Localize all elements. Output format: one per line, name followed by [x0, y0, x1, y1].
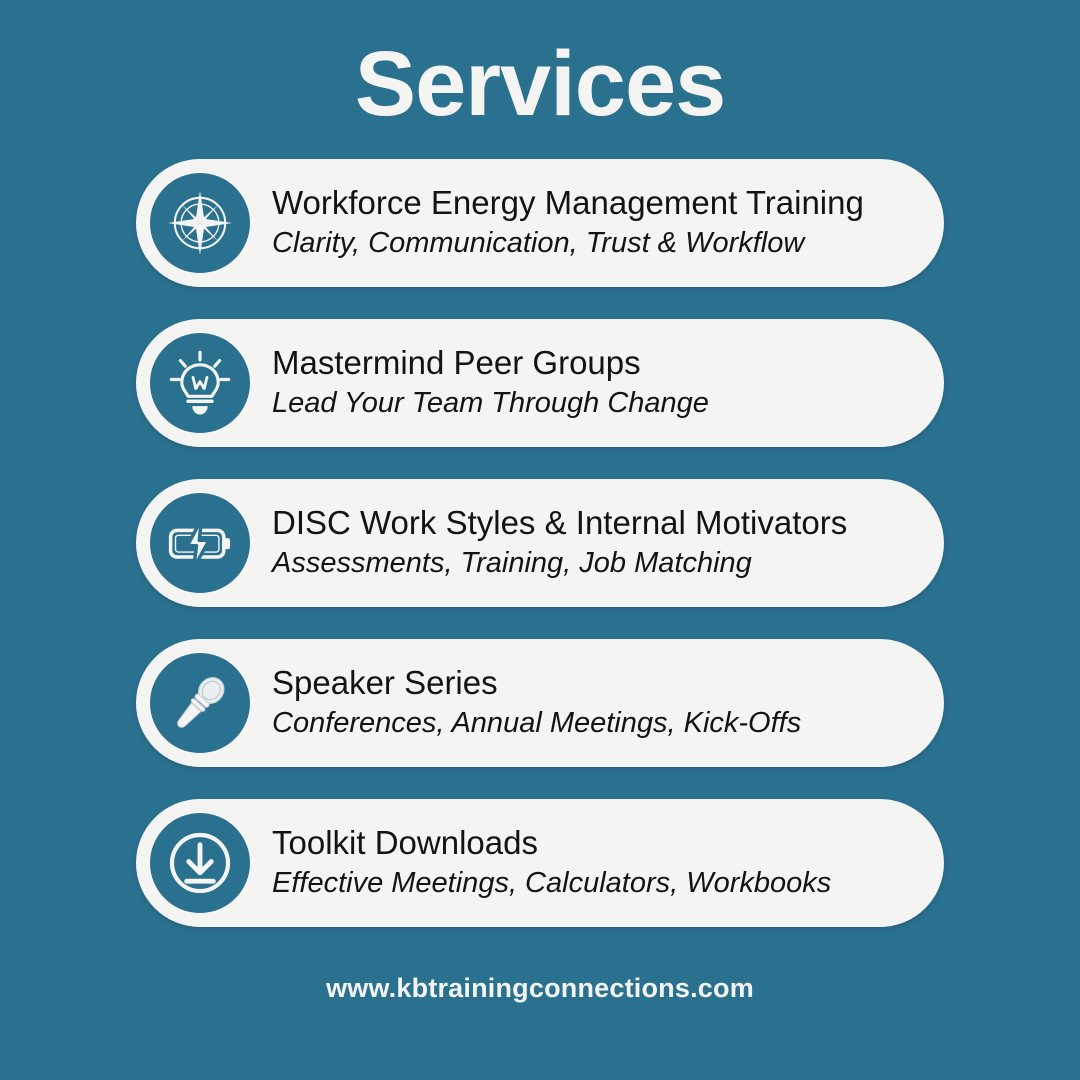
service-card-workforce-energy-management-training[interactable]: Workforce Energy Management Training Cla…: [136, 159, 944, 287]
card-title: Mastermind Peer Groups: [272, 344, 709, 383]
card-text: Toolkit Downloads Effective Meetings, Ca…: [272, 824, 831, 903]
card-subtitle: Conferences, Annual Meetings, Kick-Offs: [272, 706, 801, 741]
card-title: Workforce Energy Management Training: [272, 184, 864, 223]
card-title: Speaker Series: [272, 664, 801, 703]
microphone-icon: [150, 653, 250, 753]
card-text: Speaker Series Conferences, Annual Meeti…: [272, 664, 801, 743]
website-url[interactable]: www.kbtrainingconnections.com: [0, 973, 1080, 1004]
card-subtitle: Clarity, Communication, Trust & Workflow: [272, 226, 864, 261]
card-text: DISC Work Styles & Internal Motivators A…: [272, 504, 847, 583]
lightbulb-icon: [150, 333, 250, 433]
card-subtitle: Assessments, Training, Job Matching: [272, 546, 847, 581]
battery-bolt-icon: [150, 493, 250, 593]
page-title: Services: [0, 0, 1080, 135]
service-card-speaker-series[interactable]: Speaker Series Conferences, Annual Meeti…: [136, 639, 944, 767]
download-circle-icon: [150, 813, 250, 913]
card-subtitle: Effective Meetings, Calculators, Workboo…: [272, 866, 831, 901]
service-card-toolkit-downloads[interactable]: Toolkit Downloads Effective Meetings, Ca…: [136, 799, 944, 927]
card-text: Workforce Energy Management Training Cla…: [272, 184, 864, 263]
service-card-mastermind-peer-groups[interactable]: Mastermind Peer Groups Lead Your Team Th…: [136, 319, 944, 447]
compass-rose-icon: [150, 173, 250, 273]
card-title: Toolkit Downloads: [272, 824, 831, 863]
card-text: Mastermind Peer Groups Lead Your Team Th…: [272, 344, 709, 423]
card-subtitle: Lead Your Team Through Change: [272, 386, 709, 421]
services-list: Workforce Energy Management Training Cla…: [136, 159, 944, 927]
services-poster: Services Workforc: [0, 0, 1080, 1080]
card-title: DISC Work Styles & Internal Motivators: [272, 504, 847, 543]
service-card-disc-work-styles[interactable]: DISC Work Styles & Internal Motivators A…: [136, 479, 944, 607]
